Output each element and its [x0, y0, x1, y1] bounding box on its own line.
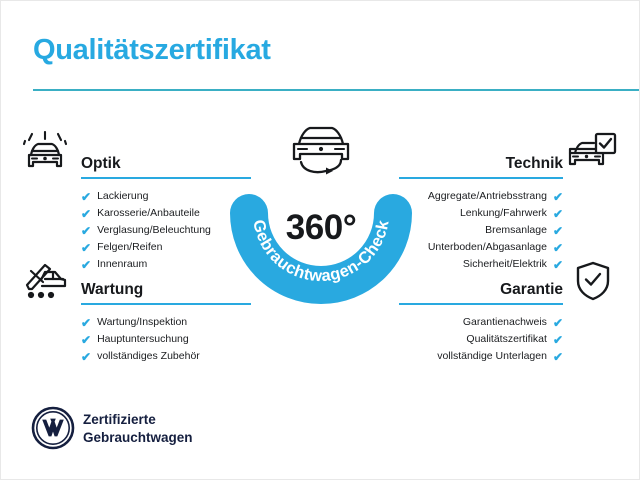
section-technik-list: Aggregate/Antriebsstrang✔ Lenkung/Fahrwe…	[399, 188, 563, 273]
badge-degrees: 360°	[229, 208, 413, 248]
section-garantie: Garantie Garantienachweis✔ Qualitätszert…	[399, 274, 563, 365]
check-icon: ✔	[81, 334, 91, 346]
check-icon: ✔	[553, 351, 563, 363]
list-item: ✔Innenraum	[81, 256, 251, 273]
list-item-label: vollständiges Zubehör	[97, 351, 200, 362]
page-title: Qualitätszertifikat	[33, 34, 271, 67]
section-optik-title: Optik	[81, 155, 121, 173]
section-technik-header: Technik	[399, 148, 563, 174]
section-technik-divider	[399, 177, 563, 179]
wrench-car-icon	[23, 259, 69, 306]
section-garantie-title: Garantie	[500, 281, 563, 299]
check-icon: ✔	[81, 351, 91, 363]
section-optik-list: ✔Lackierung ✔Karosserie/Anbauteile ✔Verg…	[81, 188, 251, 273]
section-garantie-divider	[399, 303, 563, 305]
check-icon: ✔	[81, 317, 91, 329]
list-item: vollständige Unterlagen✔	[399, 348, 563, 365]
certificate-page: Qualitätszertifikat	[0, 0, 640, 480]
list-item-label: Aggregate/Antriebsstrang	[428, 191, 547, 202]
check-icon: ✔	[553, 317, 563, 329]
car-rotate-icon	[281, 122, 361, 178]
list-item-label: Karosserie/Anbauteile	[97, 208, 200, 219]
section-optik-header: Optik	[81, 148, 251, 174]
list-item-label: Qualitätszertifikat	[466, 334, 547, 345]
check-icon: ✔	[553, 259, 563, 271]
list-item-label: Felgen/Reifen	[97, 242, 162, 253]
list-item: Lenkung/Fahrwerk✔	[399, 205, 563, 222]
list-item: ✔Felgen/Reifen	[81, 239, 251, 256]
list-item: ✔Verglasung/Beleuchtung	[81, 222, 251, 239]
check-icon: ✔	[81, 225, 91, 237]
list-item: ✔Hauptuntersuchung	[81, 331, 251, 348]
check-icon: ✔	[81, 208, 91, 220]
list-item: ✔Wartung/Inspektion	[81, 314, 251, 331]
section-wartung-header: Wartung	[81, 274, 251, 300]
list-item: Qualitätszertifikat✔	[399, 331, 563, 348]
check-icon: ✔	[81, 259, 91, 271]
list-item-label: vollständige Unterlagen	[437, 351, 547, 362]
list-item: Garantienachweis✔	[399, 314, 563, 331]
section-wartung: Wartung ✔Wartung/Inspektion ✔Hauptunters…	[81, 274, 251, 365]
check-icon: ✔	[81, 242, 91, 254]
check-icon: ✔	[553, 191, 563, 203]
shield-check-icon	[575, 260, 611, 307]
check-icon: ✔	[553, 208, 563, 220]
list-item-label: Hauptuntersuchung	[97, 334, 189, 345]
check-icon: ✔	[553, 225, 563, 237]
list-item-label: Garantienachweis	[463, 317, 547, 328]
list-item: ✔Lackierung	[81, 188, 251, 205]
vw-logo-icon	[31, 406, 75, 455]
list-item: Bremsanlage✔	[399, 222, 563, 239]
section-optik-divider	[81, 177, 251, 179]
check-icon: ✔	[553, 334, 563, 346]
car-checkbox-icon	[567, 132, 617, 179]
list-item-label: Lackierung	[97, 191, 148, 202]
list-item-label: Bremsanlage	[485, 225, 547, 236]
list-item-label: Verglasung/Beleuchtung	[97, 225, 211, 236]
list-item-label: Sicherheit/Elektrik	[463, 259, 547, 270]
section-optik: Optik ✔Lackierung ✔Karosserie/Anbauteile…	[81, 148, 251, 273]
list-item: ✔vollständiges Zubehör	[81, 348, 251, 365]
list-item: ✔Karosserie/Anbauteile	[81, 205, 251, 222]
check-icon: ✔	[81, 191, 91, 203]
vw-wordmark: Zertifizierte Gebrauchtwagen	[83, 411, 193, 447]
section-technik-title: Technik	[506, 155, 563, 173]
list-item-label: Lenkung/Fahrwerk	[460, 208, 547, 219]
car-shine-icon	[23, 131, 69, 178]
list-item: Unterboden/Abgasanlage✔	[399, 239, 563, 256]
section-garantie-header: Garantie	[399, 274, 563, 300]
list-item-label: Unterboden/Abgasanlage	[428, 242, 547, 253]
section-wartung-title: Wartung	[81, 281, 143, 299]
title-divider	[33, 89, 640, 91]
check-icon: ✔	[553, 242, 563, 254]
list-item-label: Wartung/Inspektion	[97, 317, 187, 328]
section-wartung-divider	[81, 303, 251, 305]
list-item-label: Innenraum	[97, 259, 147, 270]
section-wartung-list: ✔Wartung/Inspektion ✔Hauptuntersuchung ✔…	[81, 314, 251, 365]
list-item: Sicherheit/Elektrik✔	[399, 256, 563, 273]
list-item: Aggregate/Antriebsstrang✔	[399, 188, 563, 205]
section-garantie-list: Garantienachweis✔ Qualitätszertifikat✔ v…	[399, 314, 563, 365]
section-technik: Technik Aggregate/Antriebsstrang✔ Lenkun…	[399, 148, 563, 273]
